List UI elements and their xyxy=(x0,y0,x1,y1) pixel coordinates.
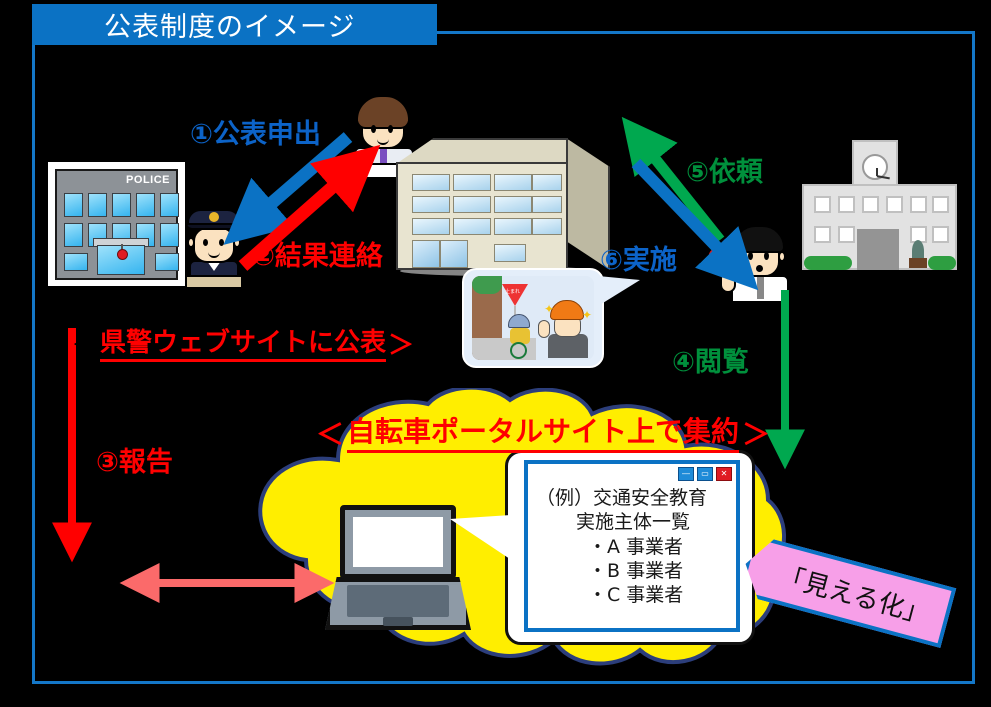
label-step1: ①公表申出 xyxy=(190,112,321,151)
label-step2: ②結果連絡 xyxy=(252,234,383,273)
police-site-open-bracket: ＜ xyxy=(72,325,98,362)
portal-text: 自転車ポータルサイト上で集約 xyxy=(347,410,739,453)
portal-callout: ＜ 自転車ポータルサイト上で集約 ＞ xyxy=(316,410,770,453)
label-step5: ⑤依頼 xyxy=(686,150,763,189)
portal-close-bracket: ＞ xyxy=(742,413,770,453)
label-step4: ④閲覧 xyxy=(672,340,749,379)
diagram-canvas: 公表制度のイメージ POLICE xyxy=(0,0,991,707)
portal-open-bracket: ＜ xyxy=(316,413,344,453)
police-site-callout: ＜ 県警ウェブサイトに公表 ＞ xyxy=(72,322,414,362)
label-step3: ③報告 xyxy=(96,440,173,479)
police-site-text: 県警ウェブサイトに公表 xyxy=(100,322,386,362)
police-site-close-bracket: ＞ xyxy=(388,325,414,362)
label-step6: ⑥実施 xyxy=(600,238,677,277)
